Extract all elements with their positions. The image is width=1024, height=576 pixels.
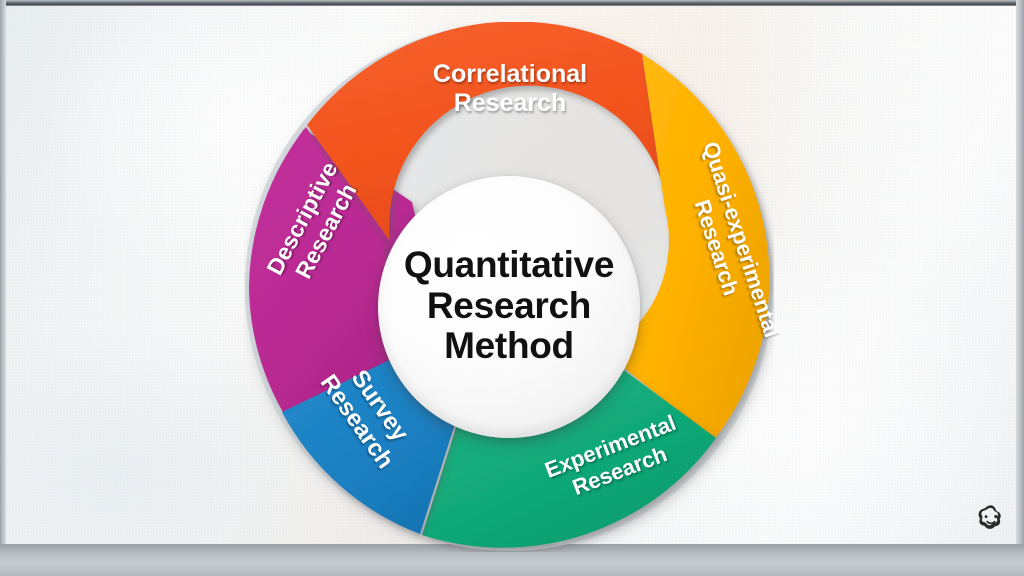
slide-frame-left [0,0,6,576]
center-hub[interactable]: Quantitative Research Method [378,176,640,438]
center-title-line-1: Quantitative [404,245,614,286]
slide-frame-top [0,0,1024,6]
center-title-line-2: Research [404,286,614,327]
slide-canvas: Quantitative Research Method Correlation… [0,0,1024,576]
logo-watermark-icon [974,502,1008,536]
slide-frame-right [1016,0,1024,576]
center-title-line-3: Method [404,326,614,367]
center-title: Quantitative Research Method [404,245,614,369]
